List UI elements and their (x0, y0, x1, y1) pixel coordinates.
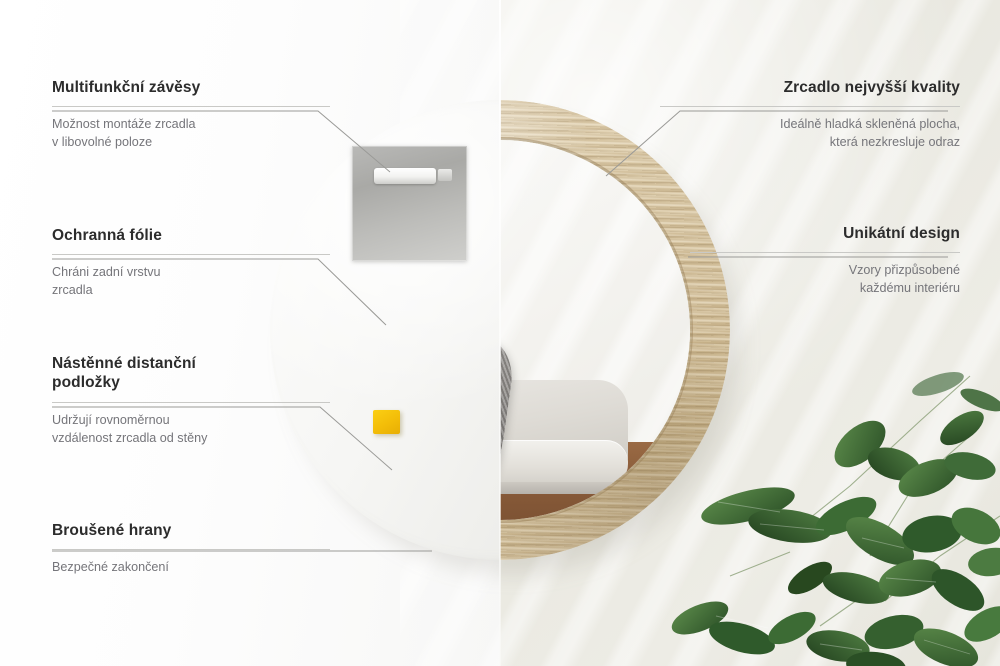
feature-rule (690, 252, 960, 253)
feature-block-nastenne-distancni-podlozky: Nástěnné distanční podložky Udržují rovn… (52, 354, 330, 448)
feature-description: Chráni zadní vrstvu zrcadla (52, 264, 330, 300)
feature-description: Možnost montáže zrcadla v libovolné polo… (52, 116, 330, 152)
feature-block-zrcadlo-nejvyssi-kvality: Zrcadlo nejvyšší kvality Ideálně hladká … (660, 78, 960, 152)
hanger-plate (352, 146, 467, 261)
infographic-canvas: Multifunkční závěsy Možnost montáže zrca… (0, 0, 1000, 666)
feature-desc-line-2: zrcadla (52, 283, 93, 297)
feature-desc-line-1: Možnost montáže zrcadla (52, 117, 196, 131)
yellow-spacer-pad (373, 410, 400, 434)
feature-description: Vzory přizpůsobené každému interiéru (690, 262, 960, 298)
feature-desc-line-1: Vzory přizpůsobené (849, 263, 960, 277)
feature-block-ochranna-folie: Ochranná fólie Chráni zadní vrstvu zrcad… (52, 226, 330, 300)
feature-rule (52, 106, 330, 107)
feature-title-line-1: Nástěnné distanční (52, 355, 196, 372)
feature-title: Nástěnné distanční podložky (52, 354, 330, 393)
split-divider (499, 0, 501, 666)
hanger-slot-secondary (438, 169, 452, 181)
feature-desc-line-2: která nezkresluje odraz (830, 135, 960, 149)
feature-desc-line-1: Udržují rovnoměrnou (52, 413, 170, 427)
feature-desc-line-1: Bezpečné zakončení (52, 560, 169, 574)
feature-desc-line-2: vzdálenost zrcadla od stěny (52, 431, 207, 445)
feature-rule (660, 106, 960, 107)
decorative-plant (670, 366, 1000, 666)
feature-rule (52, 402, 330, 403)
feature-title-line-2: podložky (52, 374, 120, 391)
feature-desc-line-2: každému interiéru (860, 281, 960, 295)
feature-rule (52, 254, 330, 255)
feature-description: Ideálně hladká skleněná plocha, která ne… (660, 116, 960, 152)
feature-rule (52, 549, 330, 550)
feature-title: Ochranná fólie (52, 226, 330, 245)
hanger-keyhole-slot (374, 168, 436, 184)
feature-block-brousene-hrany: Broušené hrany Bezpečné zakončení (52, 521, 330, 577)
feature-title: Broušené hrany (52, 521, 330, 540)
feature-block-multifunkcni-zavesy: Multifunkční závěsy Možnost montáže zrca… (52, 78, 330, 152)
feature-description: Bezpečné zakončení (52, 559, 330, 577)
feature-desc-line-1: Chráni zadní vrstvu (52, 265, 161, 279)
feature-description: Udržují rovnoměrnou vzdálenost zrcadla o… (52, 412, 330, 448)
feature-desc-line-1: Ideálně hladká skleněná plocha, (780, 117, 960, 131)
feature-block-unikatni-design: Unikátní design Vzory přizpůsobené každé… (690, 224, 960, 298)
feature-title: Unikátní design (690, 224, 960, 243)
feature-title: Multifunkční závěsy (52, 78, 330, 97)
feature-title: Zrcadlo nejvyšší kvality (660, 78, 960, 97)
feature-desc-line-2: v libovolné poloze (52, 135, 152, 149)
